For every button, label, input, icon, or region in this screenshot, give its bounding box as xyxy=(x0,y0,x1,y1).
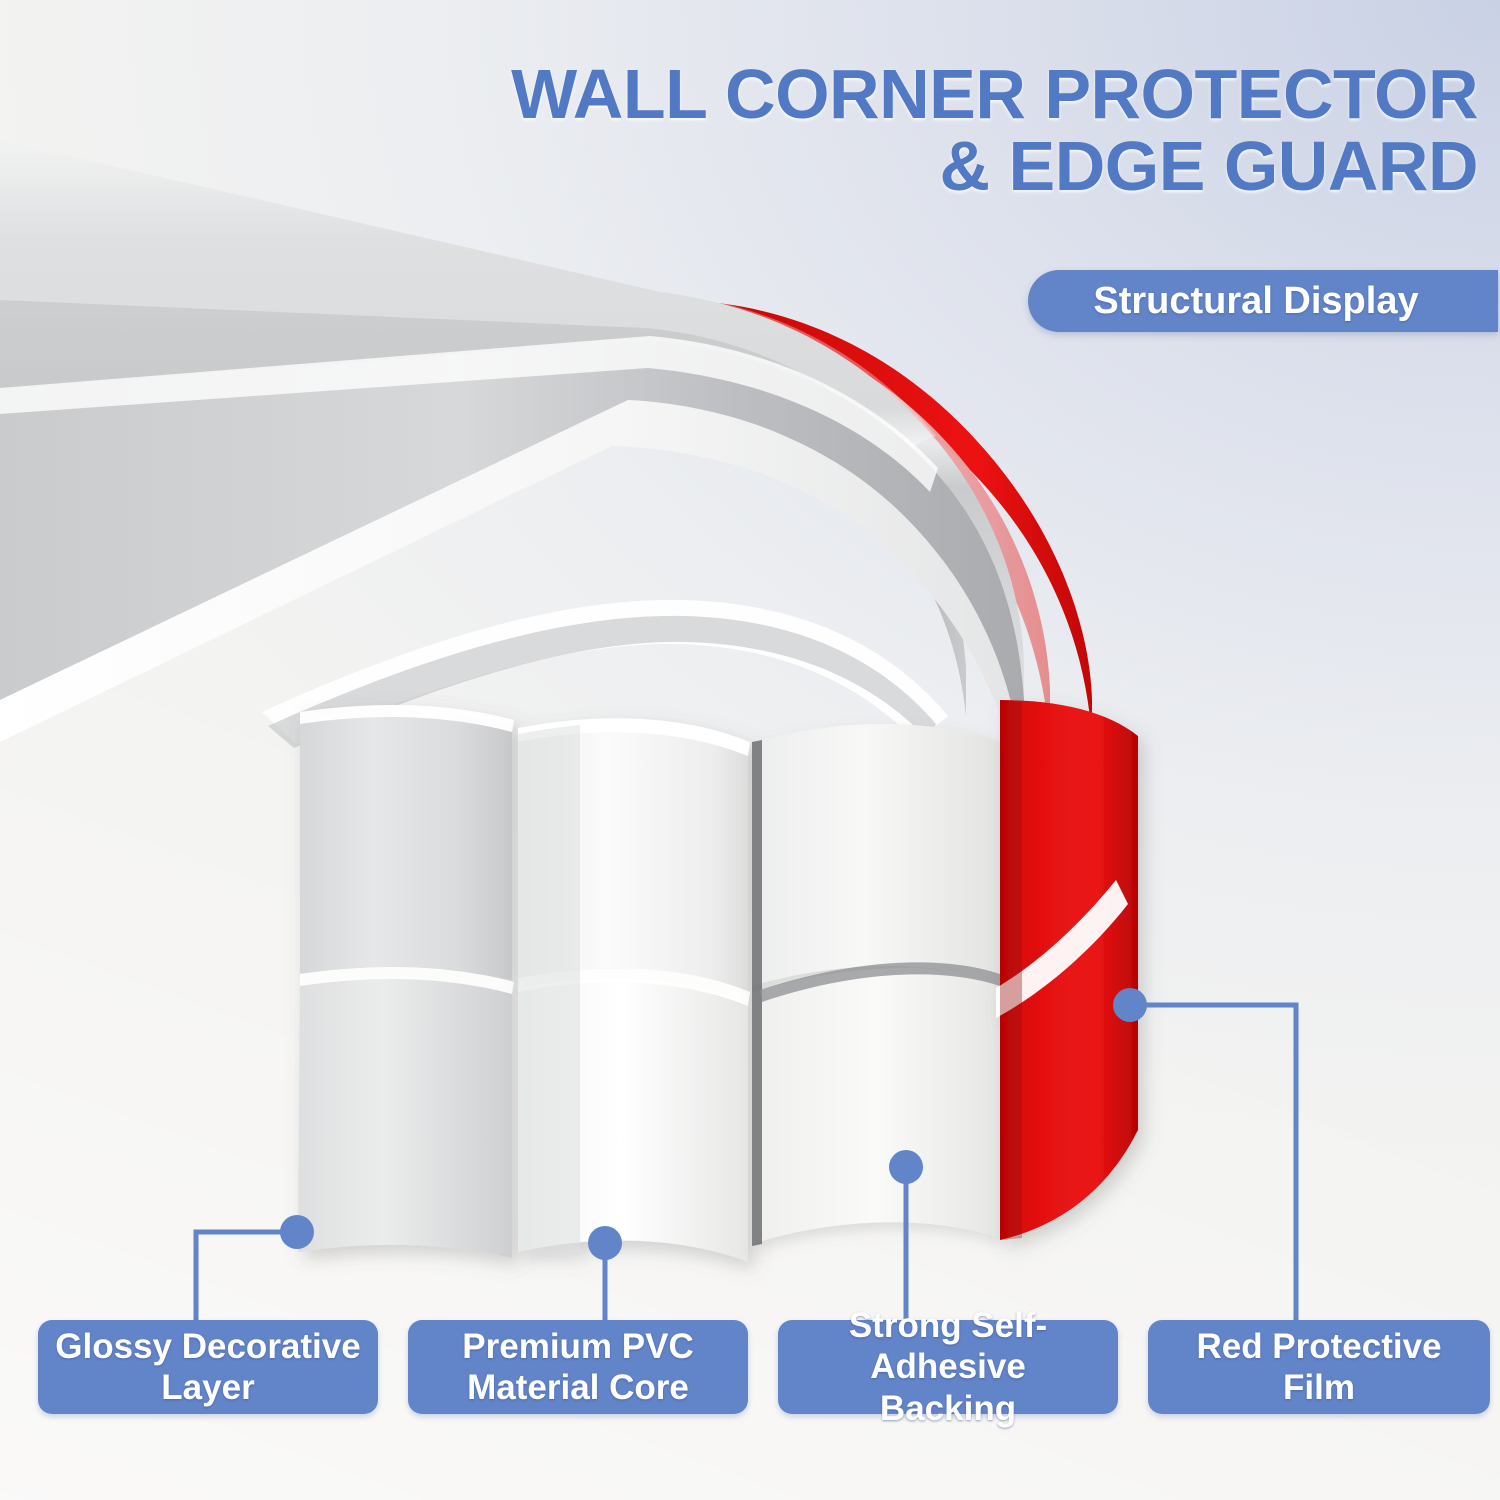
callout-label-1-line-2: Layer xyxy=(161,1368,254,1407)
callout-label-1-line-1: Glossy Decorative xyxy=(55,1327,360,1366)
callout-label-2-line-2: Material Core xyxy=(467,1368,689,1407)
callout-label-glossy-decorative-layer[interactable]: Glossy Decorative Layer xyxy=(38,1320,378,1414)
callout-label-premium-pvc-material-core[interactable]: Premium PVC Material Core xyxy=(408,1320,748,1414)
callout-label-2-line-1: Premium PVC xyxy=(462,1327,693,1366)
callout-label-text-1: Glossy Decorative Layer xyxy=(55,1326,360,1409)
callout-labels: Glossy Decorative Layer Premium PVC Mate… xyxy=(0,0,1500,1500)
callout-label-3-line-1: Strong Self-Adhesive xyxy=(849,1306,1047,1386)
callout-label-text-3: Strong Self-Adhesive Backing xyxy=(792,1305,1104,1429)
callout-label-text-4: Red Protective Film xyxy=(1162,1326,1476,1409)
callout-label-4-line-1: Red Protective Film xyxy=(1196,1327,1441,1407)
callout-label-3-line-2: Backing xyxy=(880,1389,1016,1428)
callout-label-strong-self-adhesive-backing[interactable]: Strong Self-Adhesive Backing xyxy=(778,1320,1118,1414)
product-infographic: WALL CORNER PROTECTOR & EDGE GUARD Struc… xyxy=(0,0,1500,1500)
callout-label-text-2: Premium PVC Material Core xyxy=(462,1326,693,1409)
callout-label-red-protective-film[interactable]: Red Protective Film xyxy=(1148,1320,1490,1414)
